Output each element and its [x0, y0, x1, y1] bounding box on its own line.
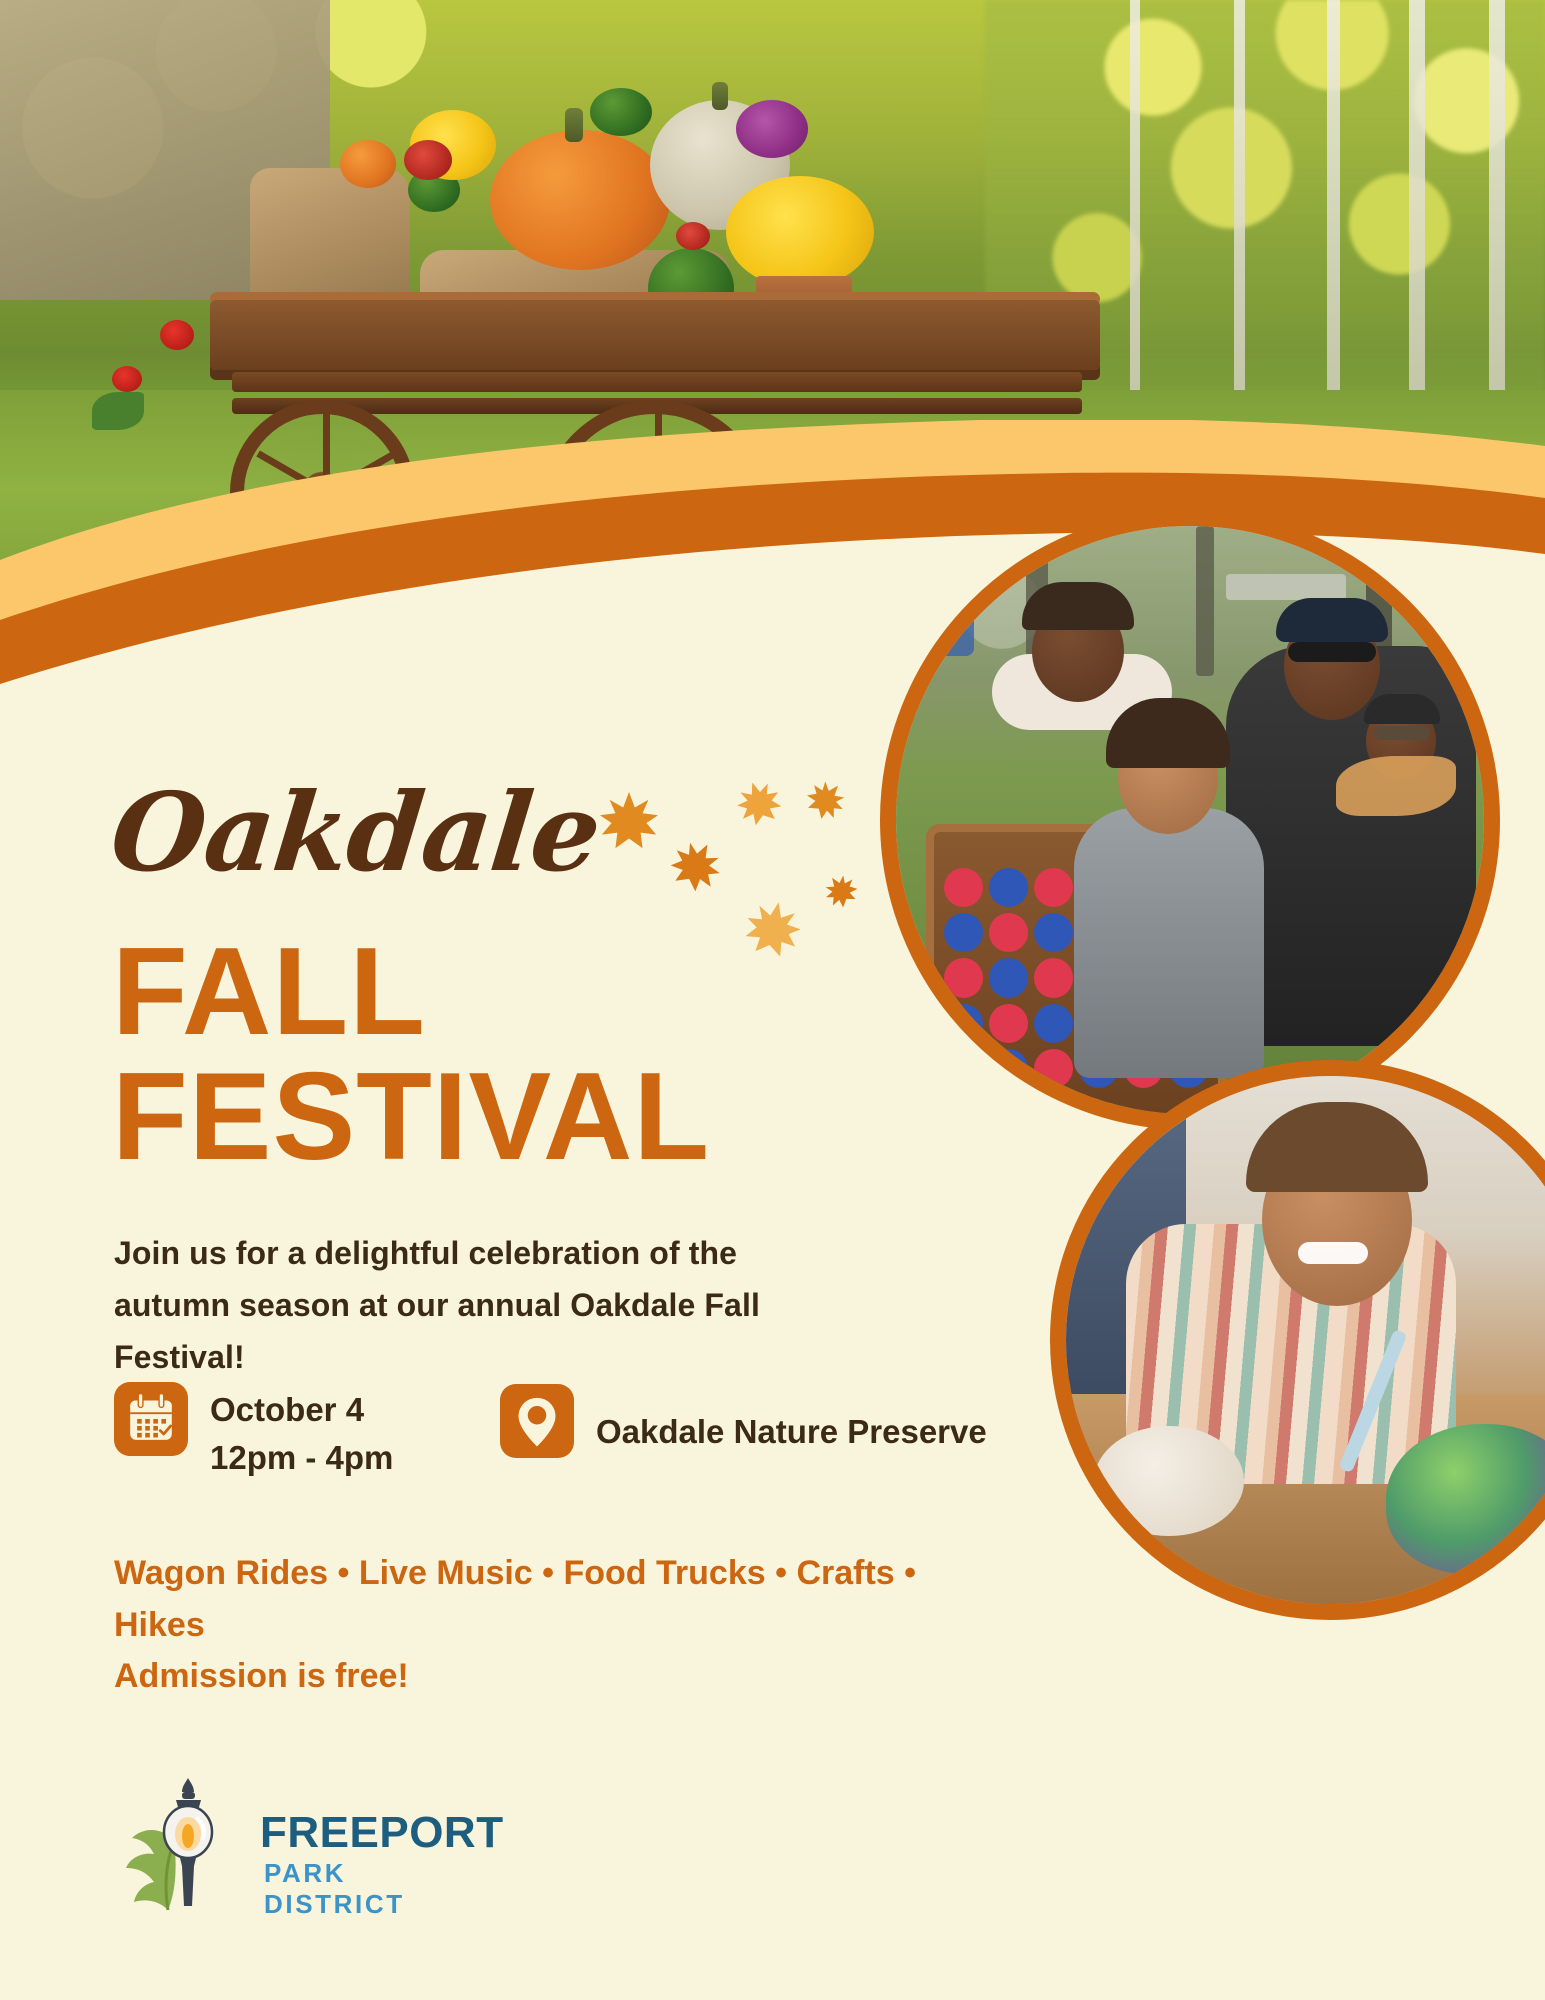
- page-title-line-1: FALL: [112, 930, 426, 1054]
- photo-wagon-bed: [210, 300, 1100, 370]
- photo-autumn-leaf-held: [1336, 756, 1456, 816]
- photo-head-wrap: [1276, 598, 1388, 642]
- photo-rose: [112, 366, 142, 392]
- photo-red-mums: [404, 140, 452, 180]
- giant-connect-four-photo: [880, 510, 1500, 1130]
- intro-paragraph: Join us for a delightful celebration of …: [114, 1228, 834, 1383]
- photo-sunglasses: [1288, 642, 1376, 662]
- maple-leaf-icon: [817, 867, 864, 914]
- features-line-2: Admission is free!: [114, 1651, 1014, 1703]
- photo-purple-mums: [736, 100, 808, 158]
- photo-pumpkin: [490, 130, 670, 270]
- event-location-block: Oakdale Nature Preserve: [500, 1384, 987, 1458]
- photo-child-hair: [1022, 582, 1134, 630]
- photo-distant-person: [916, 586, 974, 656]
- event-details: October 4 12pm - 4pm Oakdale Nature Pres…: [114, 1382, 1014, 1512]
- event-location-text: Oakdale Nature Preserve: [596, 1384, 987, 1456]
- calendar-icon: [114, 1382, 188, 1456]
- page-title-line-2: FESTIVAL: [112, 1055, 710, 1179]
- photo-small-pumpkin: [340, 140, 396, 188]
- features-line-1: Wagon Rides • Live Music • Food Trucks •…: [114, 1548, 1014, 1651]
- pumpkin-painting-photo: [1050, 1060, 1545, 1620]
- page-title-script: Oakdale: [105, 770, 605, 896]
- photo-wagon-plank: [232, 372, 1082, 392]
- maple-leaf-icon: [598, 790, 660, 852]
- maple-leaf-icon: [730, 774, 788, 832]
- event-date-line-1: October 4: [210, 1386, 393, 1434]
- photo-child-hair: [1364, 694, 1440, 724]
- photo-tree-trunk: [1196, 526, 1214, 676]
- map-pin-icon: [500, 1384, 574, 1458]
- maple-leaf-icon: [798, 772, 854, 828]
- maple-leaf-icon: [739, 895, 808, 964]
- photo-child-glasses: [1374, 726, 1430, 740]
- features-list: Wagon Rides • Live Music • Food Trucks •…: [114, 1548, 1014, 1703]
- photo-red-mums: [676, 222, 710, 250]
- photo-paint-palette: [1094, 1426, 1244, 1536]
- logo-tagline: PARK DISTRICT: [264, 1858, 442, 1920]
- photo-gourd: [590, 88, 652, 136]
- event-date-text: October 4 12pm - 4pm: [210, 1382, 393, 1482]
- photo-pumpkin-stem: [712, 82, 728, 110]
- photo-pumpkin-stem: [565, 108, 583, 142]
- maple-leaf-icon: [661, 831, 731, 901]
- lamppost-oak-leaf-icon: [112, 1770, 262, 1920]
- event-date-block: October 4 12pm - 4pm: [114, 1382, 393, 1482]
- photo-girl-figure: [1074, 808, 1264, 1078]
- photo-rose: [160, 320, 194, 350]
- fall-festival-poster: Oakdale FALL FESTIVAL Join us for a deli…: [0, 0, 1545, 2000]
- logo-name: FREEPORT: [260, 1808, 504, 1858]
- event-time-line: 12pm - 4pm: [210, 1434, 393, 1482]
- photo-smile: [1298, 1242, 1368, 1264]
- photo-picnic-table: [1226, 574, 1346, 600]
- photo-yellow-mums: [726, 176, 874, 288]
- freeport-park-district-logo: FREEPORT PARK DISTRICT: [112, 1770, 442, 1920]
